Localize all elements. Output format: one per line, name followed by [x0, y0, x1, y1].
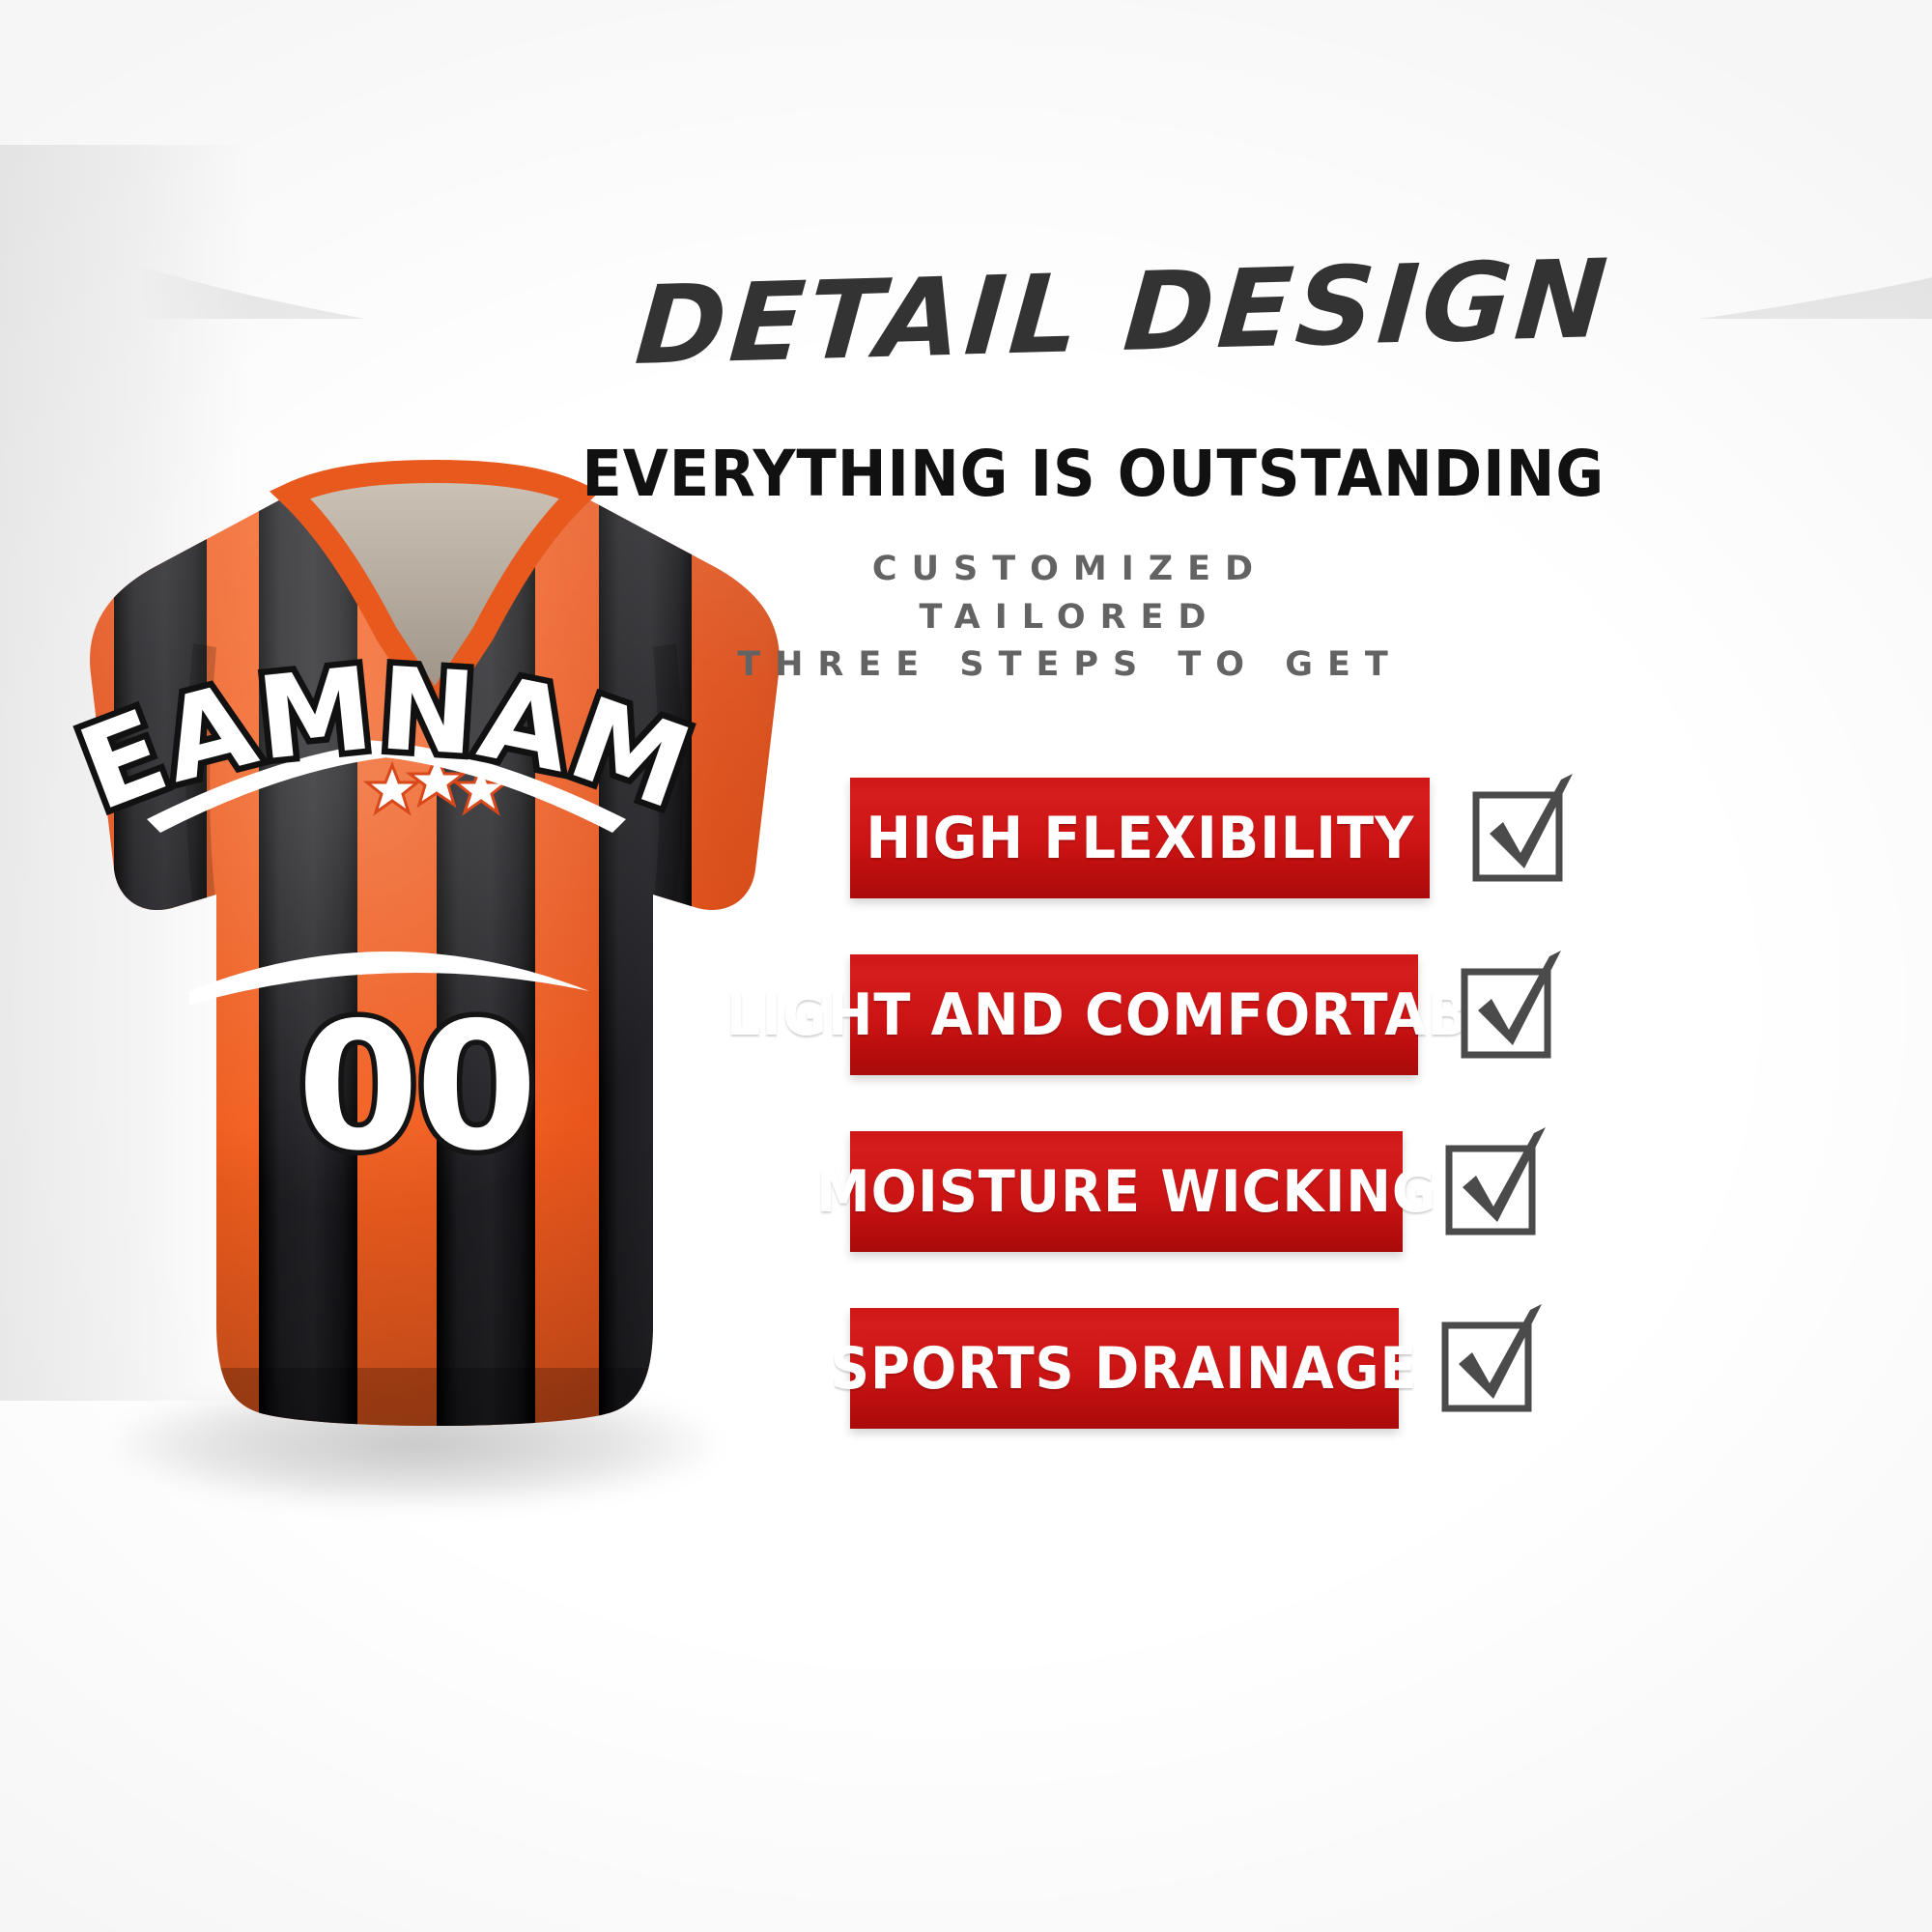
feature-banner-high-flexibility[interactable]: HIGH FLEXIBILITY	[850, 778, 1430, 898]
feature-banner-sports-drainage[interactable]: SPORTS DRAINAGE	[850, 1308, 1399, 1429]
page-subtitle: EVERYTHING IS OUTSTANDING	[582, 437, 1523, 511]
feature-row: HIGH FLEXIBILITY	[850, 778, 1874, 898]
feature-row: LIGHT AND COMFORTABLE	[850, 954, 1874, 1075]
feature-label: HIGH FLEXIBILITY	[866, 805, 1414, 872]
tagline-line-3: THREE STEPS TO GET	[676, 641, 1449, 690]
page-title-text: DETAIL DESIGN	[632, 245, 1614, 381]
check-box-icon[interactable]	[1474, 793, 1565, 884]
tagline-line-1: CUSTOMIZED	[676, 546, 1449, 594]
feature-label: SPORTS DRAINAGE	[831, 1335, 1418, 1403]
page-title: DETAIL DESIGN	[638, 259, 1449, 367]
feature-row: SPORTS DRAINAGE	[850, 1308, 1874, 1429]
check-box-icon[interactable]	[1447, 1147, 1538, 1237]
tagline-line-2: TAILORED	[676, 594, 1449, 642]
feature-label: LIGHT AND COMFORTABLE	[726, 981, 1543, 1049]
feature-banner-light-and-comfortable[interactable]: LIGHT AND COMFORTABLE	[850, 954, 1418, 1075]
poster-canvas: TEAMNAME 00 DETAIL DESIGN EVERYTHING IS …	[0, 0, 1932, 1932]
feature-list: HIGH FLEXIBILITY LIGHT AND COMFORTABLE	[850, 778, 1874, 1485]
feature-row: MOISTURE WICKING	[850, 1131, 1874, 1252]
feature-banner-moisture-wicking[interactable]: MOISTURE WICKING	[850, 1131, 1403, 1252]
check-box-icon[interactable]	[1463, 970, 1553, 1061]
jersey-number: 00	[297, 984, 533, 1189]
check-box-icon[interactable]	[1443, 1323, 1534, 1414]
feature-label: MOISTURE WICKING	[816, 1158, 1436, 1226]
tagline-block: CUSTOMIZED TAILORED THREE STEPS TO GET	[676, 546, 1449, 690]
